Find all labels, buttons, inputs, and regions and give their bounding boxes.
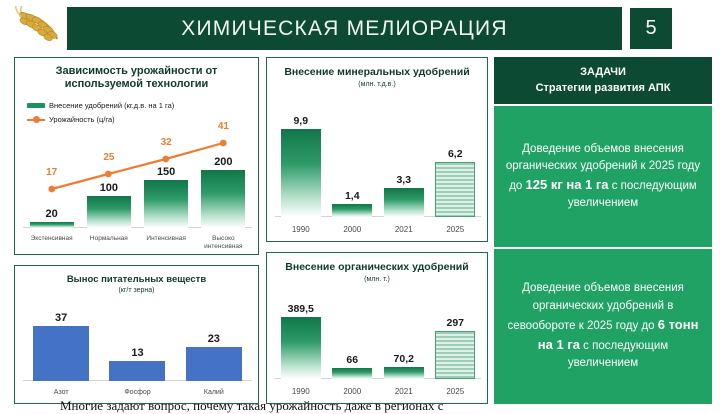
bar-rect [384, 188, 424, 217]
bar-rect-forecast [435, 331, 475, 379]
chart-bars-tech-yield: 20 100 150 200 [23, 156, 252, 228]
slide-number-badge: 5 [629, 7, 673, 50]
bar-value: 100 [100, 182, 118, 194]
bar-rect [87, 196, 131, 228]
slide-number-value: 5 [645, 17, 656, 40]
chart-panel-nutrient-removal: Вынос питательных веществ (кг/т зерна) 3… [14, 265, 259, 404]
bar-group: 200 [195, 156, 252, 228]
x-tick-label: 1990 [275, 226, 327, 235]
bar-group: 23 [176, 307, 252, 381]
x-tick-label: 2025 [430, 388, 482, 397]
bar-value: 37 [55, 312, 67, 324]
bar-value: 6,2 [448, 148, 463, 160]
chart-xaxis-mineral-fertilizer: 1990 2000 2021 2025 [275, 226, 481, 235]
bar-group: 9,9 [275, 109, 327, 217]
bar-group: 20 [23, 156, 80, 228]
x-tick-label: Калий [176, 389, 252, 397]
chart-body-organic-fertilizer: 389,5 66 70,2 297 1990 2000 2021 2025 [267, 253, 487, 403]
chart-panel-mineral-fertilizer: Внесение минеральных удобрений (млн. т.д… [266, 57, 488, 242]
page-title: ХИМИЧЕСКАЯ МЕЛИОРАЦИЯ [181, 17, 507, 41]
bar-group: 297 [430, 301, 482, 379]
slide-title-bar: ХИМИЧЕСКАЯ МЕЛИОРАЦИЯ [67, 7, 622, 50]
bar-value: 200 [214, 156, 232, 168]
chart-xaxis-organic-fertilizer: 1990 2000 2021 2025 [275, 388, 481, 397]
x-tick-label: Экстенсивная [23, 235, 80, 250]
bar-group: 100 [80, 156, 137, 228]
bar-rect [332, 204, 372, 217]
bar-rect [201, 170, 245, 228]
x-tick-label: Азот [23, 389, 99, 397]
bar-rect [384, 367, 424, 379]
tasks-heading-line1: ЗАДАЧИ [580, 65, 626, 81]
chart-bars-mineral-fertilizer: 9,9 1,4 3,3 6,2 [275, 109, 481, 217]
bar-group: 70,2 [378, 301, 430, 379]
x-tick-label: 2021 [378, 226, 430, 235]
bar-value: 297 [446, 317, 464, 329]
bar-group: 3,3 [378, 109, 430, 217]
slide-caption-text: Многие задают вопрос, почему такая урожа… [60, 398, 680, 414]
bar-value: 13 [131, 347, 143, 359]
bar-rect-forecast [435, 162, 475, 217]
bar-group: 1,4 [327, 109, 379, 217]
x-tick-label: 2025 [430, 226, 482, 235]
x-tick-label: 2000 [327, 388, 379, 397]
slide-root: ХИМИЧЕСКАЯ МЕЛИОРАЦИЯ 5 Зависимость урож… [0, 0, 720, 414]
bar-rect [30, 222, 74, 228]
bar-value: 1,4 [345, 190, 360, 202]
bar-value: 70,2 [394, 353, 414, 365]
bar-value: 3,3 [396, 174, 411, 186]
chart-xaxis-tech-yield: Экстенсивная Нормальная Интенсивная Высо… [23, 235, 252, 250]
chart-panel-tech-yield: Зависимость урожайности от используемой … [14, 57, 259, 255]
chart-xaxis-nutrient-removal: Азот Фосфор Калий [23, 389, 252, 397]
task-card-organic-125: Доведение объемов внесения органических … [494, 106, 712, 247]
bar-rect [281, 129, 321, 217]
bar-value: 20 [46, 208, 58, 220]
bar-value: 389,5 [288, 303, 314, 315]
bar-group: 6,2 [430, 109, 482, 217]
bar-rect [144, 180, 188, 228]
tasks-heading-line2: Стратегии развития АПК [536, 81, 671, 97]
bar-value: 150 [157, 166, 175, 178]
x-tick-label: 1990 [275, 388, 327, 397]
x-tick-label: Фосфор [99, 389, 175, 397]
x-tick-label: Высоко интенсивная [195, 235, 252, 250]
x-tick-label: Интенсивная [138, 235, 195, 250]
bar-rect [33, 326, 89, 381]
bar-rect [186, 347, 242, 381]
task-text-after: с последующим увеличением [568, 340, 668, 369]
bar-value: 9,9 [293, 115, 308, 127]
wheat-ear-icon [6, 6, 68, 50]
x-tick-label: Нормальная [80, 235, 137, 250]
bar-value: 66 [346, 354, 358, 366]
bar-rect [281, 317, 321, 379]
bar-group: 389,5 [275, 301, 327, 379]
task-card-organic-6t: Доведение объемов внесения органических … [494, 249, 712, 404]
chart-body-tech-yield: 20 100 150 200 17 25 32 41 Экстенсивная [15, 58, 258, 254]
tasks-header: ЗАДАЧИ Стратегии развития АПК [494, 57, 712, 104]
bar-value: 23 [208, 333, 220, 345]
chart-panel-organic-fertilizer: Внесение органических удобрений (млн. т.… [266, 252, 488, 404]
chart-body-nutrient-removal: 37 13 23 Азот Фосфор Калий [15, 266, 258, 403]
bar-group: 13 [99, 307, 175, 381]
x-tick-label: 2021 [378, 388, 430, 397]
bar-group: 150 [138, 156, 195, 228]
bar-group: 66 [327, 301, 379, 379]
x-tick-label: 2000 [327, 226, 379, 235]
bar-group: 37 [23, 307, 99, 381]
task-highlight: 125 кг на 1 га [526, 177, 609, 192]
bar-rect [332, 368, 372, 379]
bar-rect [109, 361, 165, 381]
line-point-value: 41 [218, 121, 229, 132]
chart-bars-nutrient-removal: 37 13 23 [23, 307, 252, 381]
chart-bars-organic-fertilizer: 389,5 66 70,2 297 [275, 301, 481, 379]
line-point-value: 32 [161, 137, 172, 148]
chart-body-mineral-fertilizer: 9,9 1,4 3,3 6,2 1990 2000 2021 2025 [267, 58, 487, 241]
